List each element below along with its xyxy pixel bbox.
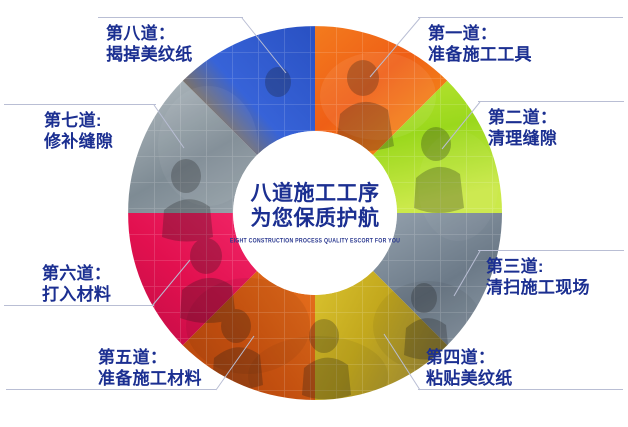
step-1-heading: 第一道： bbox=[428, 24, 532, 45]
hub-subtitle-en: EIGHT CONSTRUCTION PROCESS QUALITY ESCOR… bbox=[230, 237, 400, 245]
leader-line-3 bbox=[452, 250, 484, 298]
leader-line-5 bbox=[212, 334, 258, 392]
step-label-2[interactable]: 第二道： 清理缝隙 bbox=[488, 108, 557, 149]
step-6-heading: 第六道： bbox=[42, 264, 111, 285]
step-label-5[interactable]: 第五道： 准备施工材料 bbox=[98, 348, 202, 389]
step-3-detail: 清扫施工现场 bbox=[486, 278, 590, 299]
step-label-7[interactable]: 第七道: 修补缝隙 bbox=[44, 111, 113, 152]
leader-line-8 bbox=[240, 17, 290, 75]
hub-title-line-1: 八道施工工序 bbox=[251, 182, 380, 206]
step-label-6[interactable]: 第六道： 打入材料 bbox=[42, 264, 111, 305]
step-label-8[interactable]: 第八道： 揭掉美纹纸 bbox=[106, 24, 193, 65]
center-hub: 八道施工工序 为您保质护航 EIGHT CONSTRUCTION PROCESS… bbox=[233, 131, 397, 295]
leader-rule-8 bbox=[98, 17, 243, 18]
leader-line-1 bbox=[368, 17, 424, 79]
step-label-4[interactable]: 第四道： 粘贴美纹纸 bbox=[426, 348, 513, 389]
step-2-detail: 清理缝隙 bbox=[488, 129, 557, 150]
step-7-detail: 修补缝隙 bbox=[44, 132, 113, 153]
step-7-heading: 第七道: bbox=[44, 111, 113, 132]
step-label-3[interactable]: 第三道: 清扫施工现场 bbox=[486, 257, 590, 298]
leader-line-7 bbox=[152, 104, 188, 150]
step-4-detail: 粘贴美纹纸 bbox=[426, 369, 513, 390]
step-8-detail: 揭掉美纹纸 bbox=[106, 45, 193, 66]
step-5-heading: 第五道： bbox=[98, 348, 202, 369]
step-8-heading: 第八道： bbox=[106, 24, 193, 45]
leader-rule-3 bbox=[478, 250, 624, 251]
infographic-canvas: 八道施工工序 为您保质护航 EIGHT CONSTRUCTION PROCESS… bbox=[0, 0, 628, 427]
step-2-heading: 第二道： bbox=[488, 108, 557, 129]
step-5-detail: 准备施工材料 bbox=[98, 369, 202, 390]
leader-rule-2 bbox=[478, 101, 624, 102]
leader-line-6 bbox=[150, 258, 194, 308]
leader-rule-7 bbox=[4, 104, 156, 105]
step-4-heading: 第四道： bbox=[426, 348, 513, 369]
hub-title-line-2: 为您保质护航 bbox=[251, 207, 380, 231]
step-1-detail: 准备施工工具 bbox=[428, 45, 532, 66]
step-3-heading: 第三道: bbox=[486, 257, 590, 278]
leader-line-4 bbox=[382, 332, 424, 392]
leader-rule-1 bbox=[418, 17, 623, 18]
step-label-1[interactable]: 第一道： 准备施工工具 bbox=[428, 24, 532, 65]
step-6-detail: 打入材料 bbox=[42, 285, 111, 306]
leader-line-2 bbox=[440, 101, 484, 151]
